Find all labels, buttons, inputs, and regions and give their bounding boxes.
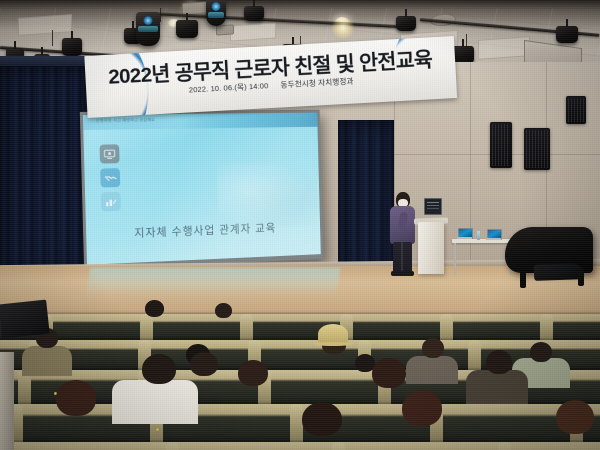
seat-armrest <box>468 340 481 370</box>
chart-icon <box>101 192 121 211</box>
presenter-shoes <box>391 271 414 276</box>
seat-armrest <box>440 314 453 340</box>
attendee-head <box>190 352 218 376</box>
stage-screen-reflection <box>86 268 341 298</box>
banner-datetime: 2022. 10. 06.(목) 14:00 <box>189 81 269 94</box>
attendee-head <box>238 360 268 386</box>
attendee-head <box>422 338 444 358</box>
floor-monitor-speaker <box>534 263 585 281</box>
stage-light <box>396 16 416 31</box>
moving-head-light <box>136 12 160 46</box>
audience-seating <box>0 300 600 450</box>
av-table <box>452 239 514 243</box>
seat-number-dot <box>156 428 159 431</box>
handshake-icon <box>100 168 120 187</box>
stage-light <box>244 6 264 21</box>
seat-armrest <box>140 314 153 340</box>
slide-surface: 안행자와 사고 예방하고 공감해요 <box>83 113 321 265</box>
light-cable <box>160 8 161 22</box>
attendee-head <box>556 400 594 434</box>
seat-armrest <box>290 404 303 442</box>
presenter-legs <box>393 242 412 274</box>
lectern <box>418 222 444 274</box>
light-cable <box>466 34 467 48</box>
projection-screen: 안행자와 사고 예방하고 공감해요 <box>80 110 324 270</box>
wall-speaker <box>566 96 586 124</box>
stage-light <box>176 20 198 38</box>
attendee-head <box>145 300 164 317</box>
seat-armrest <box>332 442 345 450</box>
attendee-head <box>530 342 552 362</box>
moving-head-light <box>206 0 226 26</box>
attendee-head <box>56 380 96 416</box>
wall-plaque <box>424 198 442 215</box>
attendee-shoulders <box>112 380 198 424</box>
attendee-shoulders <box>406 356 458 384</box>
attendee-head <box>215 303 232 318</box>
attendee-head <box>302 402 342 436</box>
laptop <box>457 228 472 239</box>
ceiling-vent <box>216 24 234 35</box>
attendee-hat <box>318 324 348 344</box>
water-bottle <box>477 231 480 240</box>
attendee-head <box>372 358 406 388</box>
seat-armrest <box>540 314 553 340</box>
side-speaker <box>0 300 50 339</box>
light-cable <box>52 30 53 46</box>
slide-caption: 지자체 수행사업 관계자 교육 <box>86 218 320 243</box>
seat-armrest <box>166 442 179 450</box>
attendee-head <box>142 354 176 384</box>
seat-row[interactable] <box>0 314 600 340</box>
seat-armrest <box>240 314 253 340</box>
wall-speaker <box>490 122 512 168</box>
slide-header-text: 안행자와 사고 예방하고 공감해요 <box>96 117 155 124</box>
wall-speaker <box>524 128 550 170</box>
auditorium-photo: 안행자와 사고 예방하고 공감해요 <box>0 0 600 450</box>
attendee-shoulders <box>22 346 72 376</box>
stage-curtain-right <box>338 120 394 272</box>
ceiling-panel <box>478 36 530 60</box>
seat-armrest <box>498 442 511 450</box>
attendee-head <box>402 390 442 426</box>
stage-curtain-left <box>0 66 88 272</box>
attendee-shoulders <box>466 370 528 404</box>
ceiling-panel <box>230 22 276 41</box>
ceiling-panel <box>18 14 72 36</box>
av-table-leg <box>454 243 456 275</box>
aisle-rail <box>0 352 14 450</box>
stage-light <box>556 26 578 43</box>
laptop <box>486 229 501 240</box>
piano-leg <box>520 268 526 288</box>
stage-light <box>62 38 82 56</box>
attendee-head <box>486 350 512 374</box>
banner-organizer: 동두천시청 자치행정과 <box>280 77 353 90</box>
presentation-icon <box>100 144 120 163</box>
seat-row[interactable] <box>0 442 600 450</box>
